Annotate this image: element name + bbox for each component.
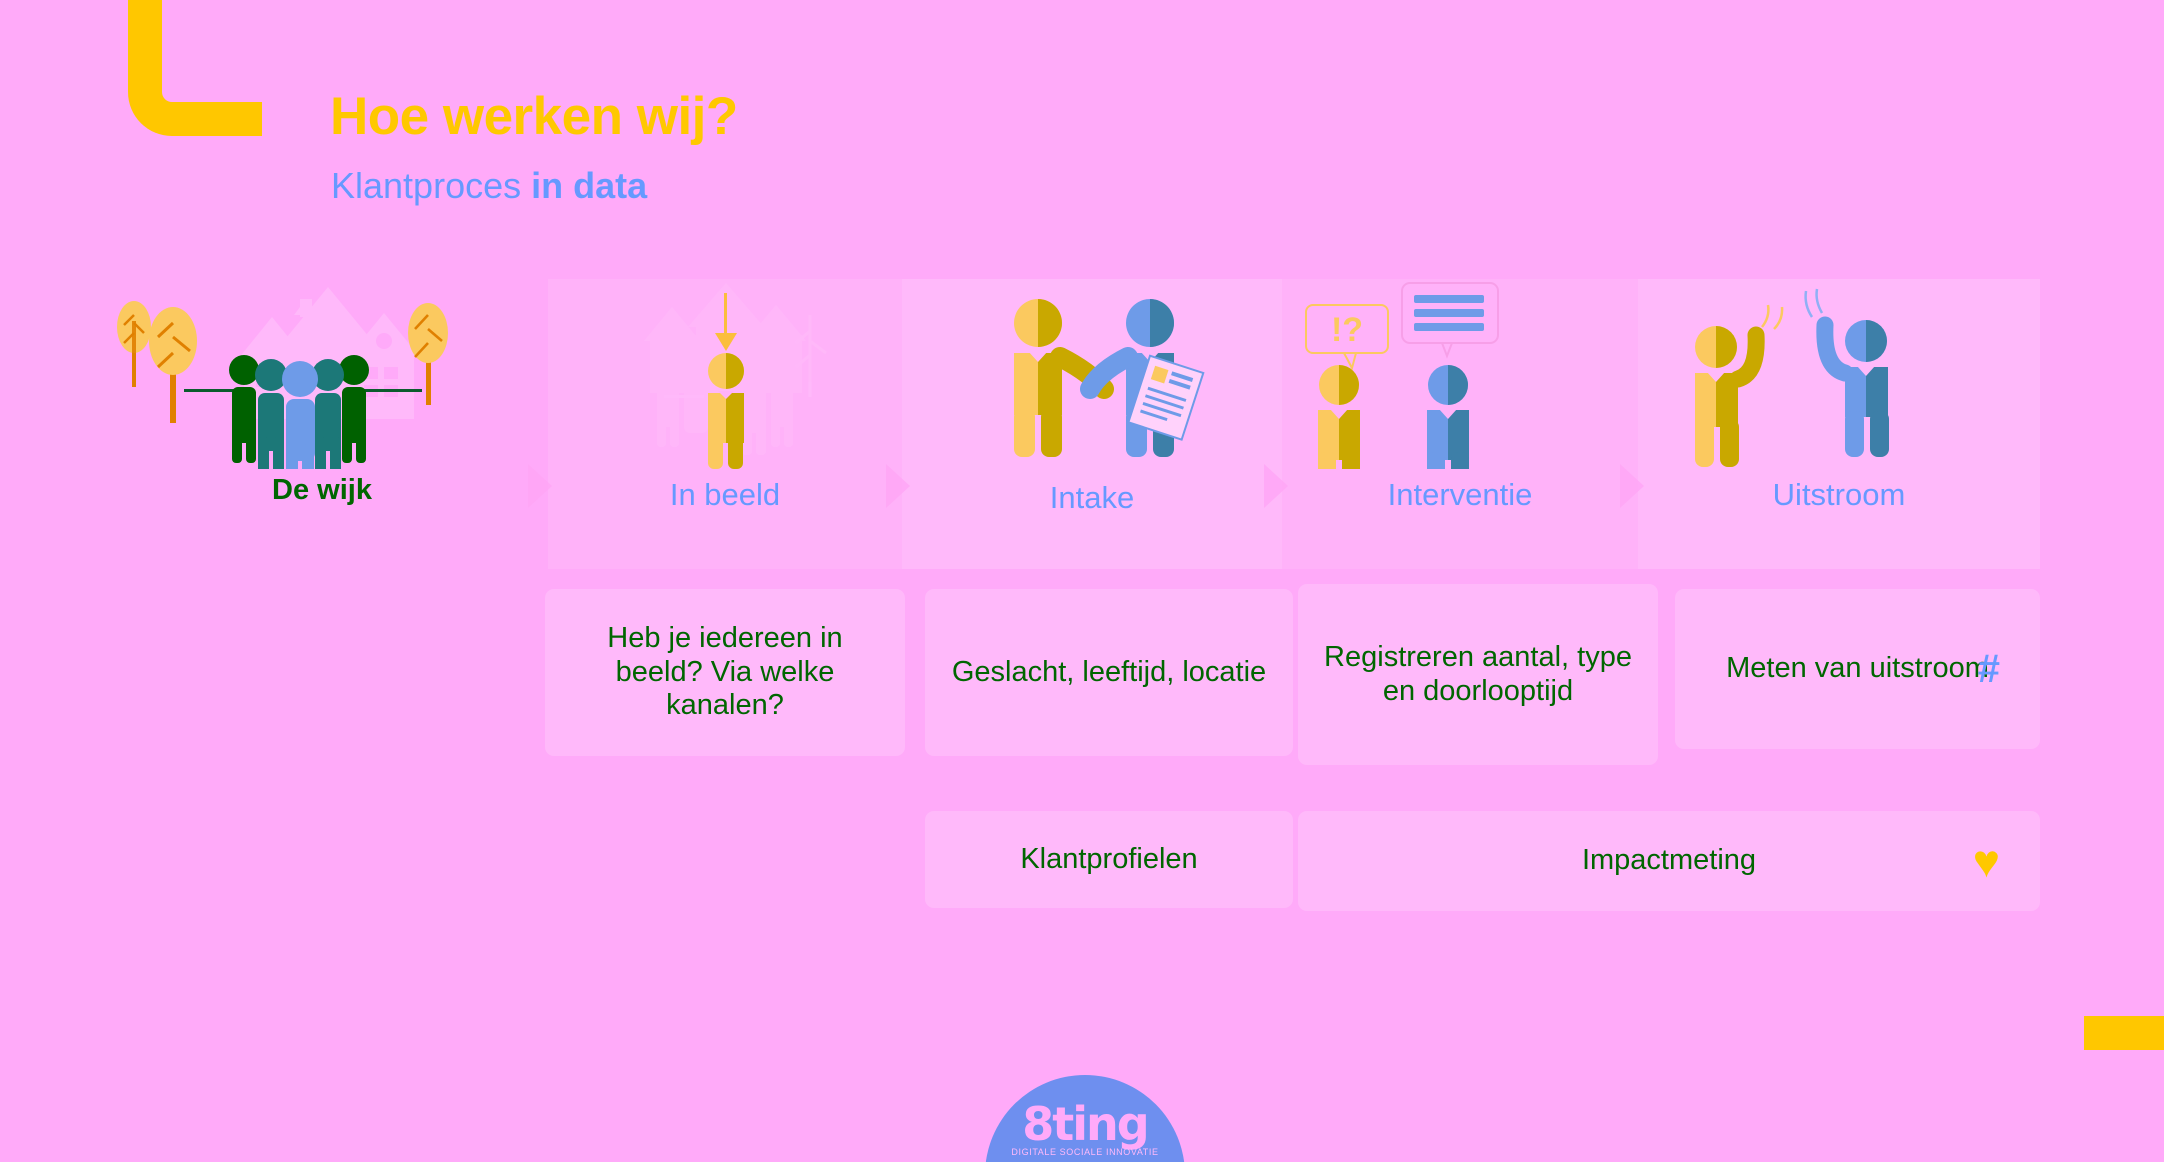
handshake-form-icon [902,279,1282,469]
card-text: Impactmeting [1582,844,1756,878]
stage-label-intake: Intake [902,482,1282,513]
svg-text:!?: !? [1331,311,1363,349]
card-text: Registreren aantal, type en doorlooptijd [1320,641,1636,709]
brand-logo: 8ting DIGITALE SOCIALE INNOVATIE [985,1075,1185,1162]
in-beeld-card[interactable]: Heb je iedereen in beeld? Via welke kana… [545,589,905,756]
stage-label-de-wijk: De wijk [96,476,548,505]
process-flow-band: De wijk [96,279,2040,569]
two-people-speech-bubbles-icon: !? [1282,279,1638,469]
process-stage-interventie[interactable]: !? [1282,279,1638,569]
two-people-waving-icon [1638,279,2040,469]
interventie-card[interactable]: Registreren aantal, type en doorlooptijd [1298,584,1658,765]
card-text: Geslacht, leeftijd, locatie [952,656,1266,690]
intake-card[interactable]: Geslacht, leeftijd, locatie [925,589,1293,756]
process-stage-de-wijk[interactable]: De wijk [96,279,548,569]
subtitle-bold-part: in data [531,165,647,206]
hash-icon: # [1978,649,2000,689]
card-text: Meten van uitstroom [1726,652,1989,686]
stage-label-uitstroom: Uitstroom [1638,479,2040,510]
logo-tagline: DIGITALE SOCIALE INNOVATIE [985,1147,1185,1157]
impactmeting-card[interactable]: Impactmeting ♥ [1298,811,2040,911]
klantprofielen-card[interactable]: Klantprofielen [925,811,1293,908]
heart-icon: ♥ [1973,838,2000,884]
page-subtitle: Klantproces in data [331,168,647,204]
process-stage-intake[interactable]: Intake [902,279,1282,569]
flow-arrow-icon-2 [886,464,910,508]
page-title: Hoe werken wij? [330,90,738,143]
uitstroom-card[interactable]: Meten van uitstroom # [1675,589,2040,749]
decorative-bracket-shape [128,0,262,136]
decorative-corner-block [2084,1016,2164,1050]
card-text: Klantprofielen [1020,843,1197,877]
process-stage-in-beeld[interactable]: In beeld [548,279,902,569]
card-text: Heb je iedereen in beeld? Via welke kana… [567,622,883,724]
logo-wordmark: 8ting [985,1097,1185,1151]
slide-canvas: Hoe werken wij? Klantproces in data [0,0,2164,1162]
flow-arrow-icon-3 [1264,464,1288,508]
subtitle-plain-part: Klantproces [331,165,531,206]
process-stage-uitstroom[interactable]: Uitstroom [1638,279,2040,569]
flow-arrow-icon-1 [528,464,552,508]
stage-label-interventie: Interventie [1282,479,1638,510]
person-spotlight-arrow-icon [548,279,902,469]
flow-arrow-icon-4 [1620,464,1644,508]
stage-label-in-beeld: In beeld [548,479,902,510]
neighbourhood-people-icon [96,279,548,469]
